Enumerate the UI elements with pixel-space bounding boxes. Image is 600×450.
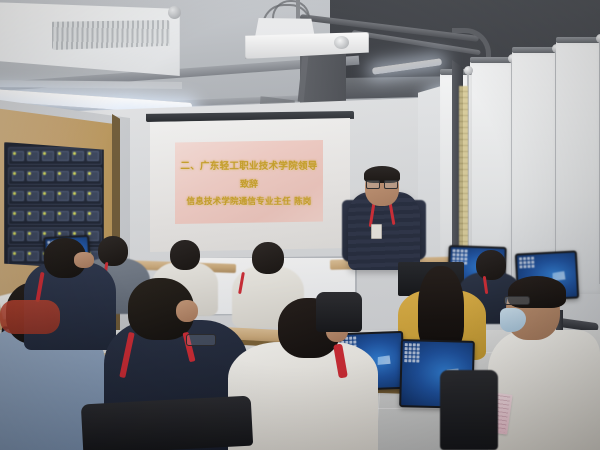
network-module-icon bbox=[27, 211, 39, 221]
network-module-icon bbox=[42, 211, 54, 221]
air-conditioner-vent-icon bbox=[52, 20, 170, 50]
roller-blind-header bbox=[556, 37, 600, 43]
slide-line-2: 致辞 bbox=[240, 177, 258, 190]
network-module-icon bbox=[12, 151, 24, 161]
network-module-icon bbox=[72, 191, 84, 201]
windows-logo-icon bbox=[377, 355, 391, 365]
network-module-icon bbox=[27, 231, 39, 241]
student-face bbox=[74, 252, 94, 268]
module-board-row bbox=[8, 147, 102, 165]
student-ear bbox=[176, 300, 198, 322]
network-module-icon bbox=[42, 151, 54, 161]
chair-front-left[interactable] bbox=[81, 396, 253, 450]
monitor-icon-grid bbox=[404, 343, 419, 362]
slide-line-3: 信息技术学院通信专业主任 陈岗 bbox=[187, 195, 312, 207]
network-module-icon bbox=[57, 151, 69, 161]
network-module-icon bbox=[27, 191, 39, 201]
network-module-icon bbox=[12, 191, 24, 201]
ceiling-sensor-icon bbox=[168, 6, 181, 19]
network-module-icon bbox=[87, 171, 99, 181]
eyeglasses-icon bbox=[366, 180, 398, 187]
network-module-icon bbox=[72, 171, 84, 181]
network-module-icon bbox=[12, 171, 24, 181]
network-module-icon bbox=[27, 151, 39, 161]
student-head bbox=[98, 236, 128, 266]
classroom-photo: 二、广东轻工职业技术学院领导 致辞 信息技术学院通信专业主任 陈岗 bbox=[0, 0, 600, 450]
network-module-icon bbox=[87, 191, 99, 201]
slide-line-1: 二、广东轻工职业技术学院领导 bbox=[180, 158, 317, 172]
network-module-icon bbox=[42, 191, 54, 201]
eyeglasses-icon bbox=[504, 296, 530, 305]
network-module-icon bbox=[72, 151, 84, 161]
chair-center[interactable] bbox=[316, 292, 362, 332]
network-module-icon bbox=[87, 151, 99, 161]
network-module-icon bbox=[72, 211, 84, 221]
student-head bbox=[252, 242, 284, 274]
student-head bbox=[476, 250, 506, 280]
module-board-row bbox=[8, 167, 102, 185]
network-module-icon bbox=[12, 251, 24, 261]
network-module-icon bbox=[42, 171, 54, 181]
student-sleeve-stripe bbox=[0, 300, 60, 334]
projector-lens-icon bbox=[334, 36, 349, 49]
monitor-icon-grid bbox=[519, 257, 535, 269]
module-board-row bbox=[8, 207, 102, 225]
roller-blind-knob-icon[interactable] bbox=[464, 66, 473, 75]
network-module-icon bbox=[57, 211, 69, 221]
speaker-id-badge bbox=[371, 224, 382, 239]
network-module-icon bbox=[27, 251, 39, 261]
network-module-icon bbox=[12, 231, 24, 241]
eyeglasses-icon bbox=[186, 334, 216, 346]
network-module-icon bbox=[87, 211, 99, 221]
network-module-icon bbox=[12, 211, 24, 221]
network-module-icon bbox=[57, 171, 69, 181]
network-module-icon bbox=[57, 191, 69, 201]
module-board-row bbox=[8, 187, 102, 205]
projected-slide: 二、广东轻工职业技术学院领导 致辞 信息技术学院通信专业主任 陈岗 bbox=[175, 140, 323, 224]
student-head bbox=[170, 240, 200, 270]
network-module-icon bbox=[27, 171, 39, 181]
chair-right[interactable] bbox=[440, 370, 498, 450]
